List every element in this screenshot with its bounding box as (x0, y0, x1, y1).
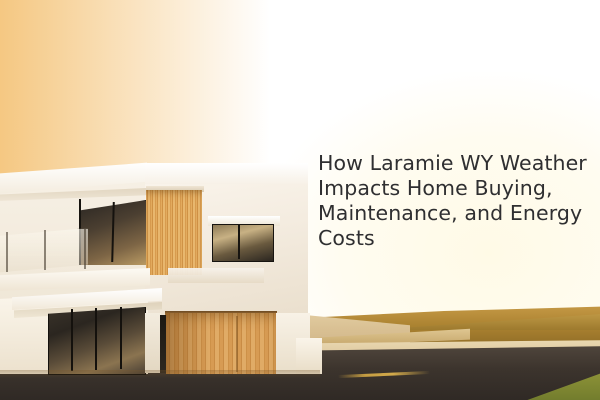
wood-panel-shadow (166, 313, 210, 374)
modern-house (0, 150, 320, 350)
sliding-glass-doors (48, 307, 146, 375)
title-line-1: How Laramie WY Weather (318, 151, 586, 176)
door-mullion (95, 308, 97, 370)
wood-slat-screen (146, 190, 202, 275)
title-line-2: Impacts Home Buying, (318, 176, 586, 201)
railing-post (44, 230, 46, 270)
entry-side-wall (145, 313, 161, 373)
railing-post (6, 232, 8, 272)
title-line-4: Costs (318, 226, 586, 251)
title-line-3: Maintenance, and Energy (318, 201, 586, 226)
door-mullion (71, 309, 73, 371)
house-base-shadow (0, 370, 320, 378)
outbuilding-block (296, 338, 322, 374)
facade-recess-band (168, 268, 264, 283)
roof-parapet-front (145, 163, 308, 184)
railing-post (84, 229, 86, 269)
upper-right-window (212, 224, 274, 262)
article-title: How Laramie WY Weather Impacts Home Buyi… (318, 151, 586, 251)
door-mullion (120, 307, 122, 369)
article-header-banner: How Laramie WY Weather Impacts Home Buyi… (0, 0, 600, 400)
window-mullion (238, 225, 240, 259)
wood-panel-seam (236, 316, 238, 372)
